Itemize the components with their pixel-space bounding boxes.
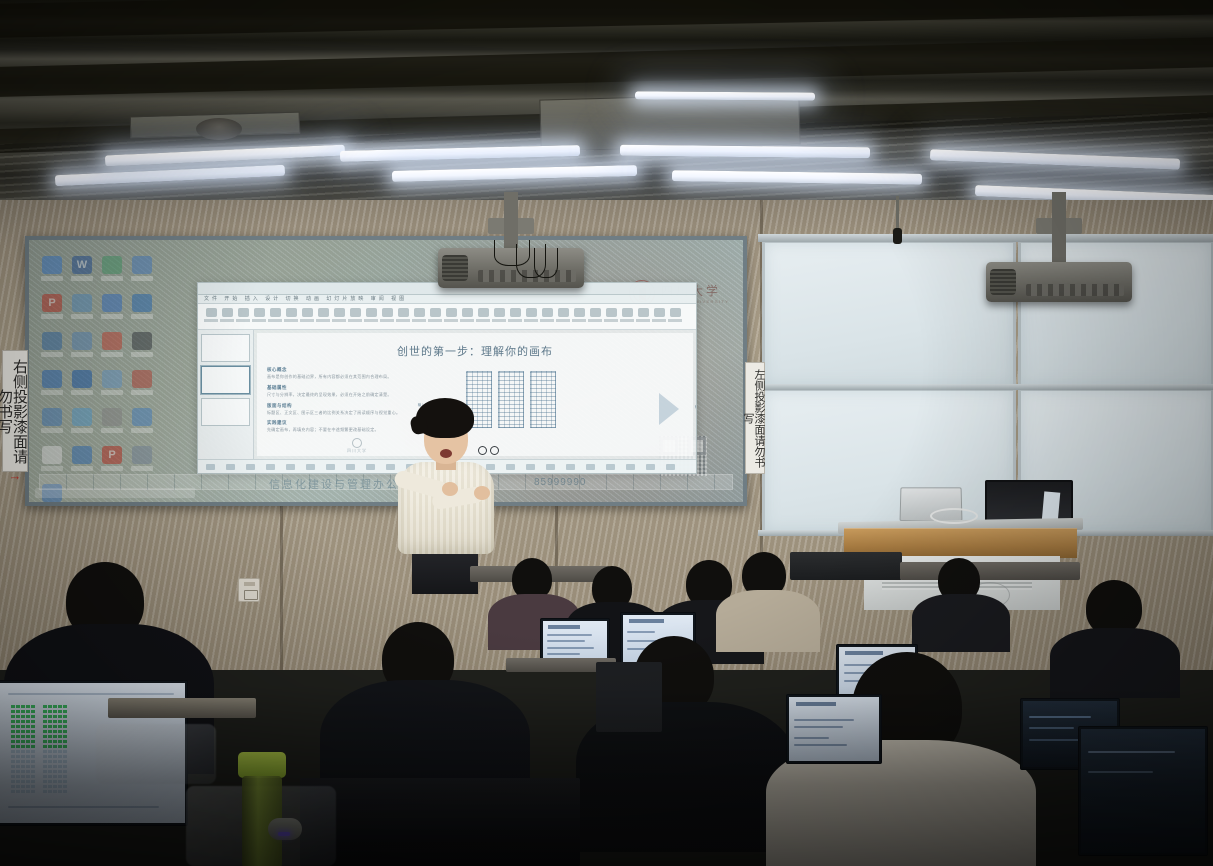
slide-thumbnail[interactable] [201, 366, 250, 394]
slide-title: 创世的第一步：理解你的画布 [267, 343, 683, 359]
diagram-cell [11, 745, 15, 748]
diagram-cell [11, 710, 15, 713]
ribbon-button[interactable] [620, 308, 634, 326]
ribbon-label [444, 319, 458, 322]
ribbon-label [652, 319, 666, 322]
screen-heading [845, 651, 883, 655]
diagram-cell [43, 720, 47, 723]
diagram-cell [11, 770, 15, 773]
ribbon-label [412, 319, 426, 322]
desktop-icon-glyph [132, 446, 152, 464]
whiteboard-rail [758, 384, 1213, 390]
eyeglasses-icon [478, 446, 500, 459]
wireless-mouse[interactable] [268, 818, 302, 840]
ribbon-button[interactable] [524, 308, 538, 326]
slide-thumbnail[interactable] [201, 398, 250, 426]
diagram-cell [63, 725, 67, 728]
desktop-icon[interactable] [41, 408, 63, 438]
ribbon-icon [622, 308, 633, 317]
projector-lens-icon [990, 269, 1016, 295]
slide-thumbnail[interactable] [201, 334, 250, 362]
diagram-cell [26, 770, 30, 773]
diagram-cell [53, 730, 57, 733]
desktop-icon-glyph [102, 294, 122, 312]
diagram-cell [26, 790, 30, 793]
desktop-icon-glyph: P [102, 446, 122, 464]
desktop-icon-glyph [42, 256, 62, 274]
screen-line [794, 719, 853, 721]
ribbon-label [380, 319, 394, 322]
presenter-right-hand [474, 486, 490, 500]
ceiling-beam [0, 0, 1213, 38]
diagram-cell [58, 790, 62, 793]
ribbon-icon [510, 308, 521, 317]
ribbon-icon [222, 308, 233, 317]
diagram-cell [16, 775, 20, 778]
diagram-cell [53, 755, 57, 758]
diagram-cell [63, 710, 67, 713]
diagram-cell [21, 770, 25, 773]
ribbon-label [236, 319, 250, 322]
screen-line [627, 631, 655, 633]
diagram-cell [43, 750, 47, 753]
diagram-cell [58, 705, 62, 708]
screen-line [1088, 771, 1152, 773]
ribbon-button[interactable] [252, 308, 266, 326]
ribbon-button[interactable] [380, 308, 394, 326]
diagram-cell [16, 790, 20, 793]
ribbon-icon [286, 308, 297, 317]
student-body [912, 594, 1010, 652]
desktop-icon-glyph [42, 446, 62, 464]
ribbon-button[interactable] [604, 308, 618, 326]
ribbon-button[interactable] [268, 308, 282, 326]
diagram-cell [21, 725, 25, 728]
screen-line [794, 744, 846, 746]
ribbon-label [348, 319, 362, 322]
slide-paragraph: 基础属性尺寸与分辨率，决定最终的呈现效果，必须在开始之前确定清楚。 [267, 385, 442, 398]
ribbon-button[interactable] [492, 308, 506, 326]
diagram-cell [53, 745, 57, 748]
desktop-icon-label [101, 314, 123, 319]
diagram-cell [26, 715, 30, 718]
desktop-icon-label [131, 352, 153, 357]
screen-heading [796, 702, 836, 706]
diagram-cell [11, 755, 15, 758]
ribbon-label [284, 319, 298, 322]
desktop-icon-label [131, 314, 153, 319]
diagram-cell [26, 730, 30, 733]
diagram-cell [58, 720, 62, 723]
ribbon-icon [446, 308, 457, 317]
desktop-icon-label [101, 352, 123, 357]
ribbon-icon [270, 308, 281, 317]
ribbon-label [556, 319, 570, 322]
slide-thumbnail-pane[interactable] [198, 330, 254, 459]
diagram-cell [43, 755, 47, 758]
diagram-cell [31, 765, 35, 768]
screen-line [8, 806, 158, 808]
fluorescent-light [635, 91, 815, 100]
diagram-cell [58, 775, 62, 778]
diagram-cell [11, 715, 15, 718]
paragraph-body: 尺寸与分辨率，决定最终的呈现效果，必须在开始之前确定清楚。 [267, 392, 442, 398]
desktop-icon[interactable] [71, 370, 93, 400]
diagram-cell [53, 770, 57, 773]
diagram-cell [63, 745, 67, 748]
diagram-cell [53, 715, 57, 718]
ribbon-icon [558, 308, 569, 317]
screen-line [1088, 751, 1175, 753]
desktop-icon-glyph [132, 294, 152, 312]
desktop-icon-label [71, 428, 93, 433]
diagram-cell [43, 745, 47, 748]
diagram-cell [11, 705, 15, 708]
diagram-cell [16, 715, 20, 718]
diagram-cell [48, 765, 52, 768]
ribbon-icon [430, 308, 441, 317]
diagram-cell [11, 760, 15, 763]
diagram-cell [16, 745, 20, 748]
diagram-cell [21, 715, 25, 718]
ribbon-toolbar[interactable] [198, 304, 696, 330]
diagram-cell [11, 775, 15, 778]
diagram-cell [26, 760, 30, 763]
desktop-icon-glyph [72, 294, 92, 312]
diagram-cell [63, 775, 67, 778]
diagram-funnel-icon [659, 393, 679, 425]
diagram-cell [53, 710, 57, 713]
diagram-cell [58, 710, 62, 713]
ribbon-label [572, 319, 586, 322]
projector-mount-pole [1052, 192, 1066, 262]
ribbon-label [524, 319, 538, 322]
desktop-icon[interactable] [131, 294, 153, 324]
ribbon-button[interactable] [204, 308, 218, 326]
diagram-cell [48, 750, 52, 753]
diagram-cell [26, 785, 30, 788]
ribbon-label [476, 319, 490, 322]
air-vent [539, 92, 800, 151]
desktop-icon-label [71, 314, 93, 319]
ribbon-label [620, 319, 634, 322]
desktop-icon-label [101, 428, 123, 433]
desktop-icon[interactable] [131, 408, 153, 438]
ribbon-button[interactable] [236, 308, 250, 326]
desktop-icon[interactable] [71, 332, 93, 362]
diagram-cell [11, 750, 15, 753]
ribbon-label [540, 319, 554, 322]
screen-line [547, 647, 594, 649]
desktop-icon[interactable] [101, 294, 123, 324]
diagram-cell [31, 785, 35, 788]
diagram-cell [53, 750, 57, 753]
diagram-cell [58, 760, 62, 763]
ribbon-button[interactable] [316, 308, 330, 326]
diagram-cell [58, 755, 62, 758]
diagram-cell [26, 710, 30, 713]
screen-line [1029, 716, 1091, 718]
desktop-icon-glyph [102, 332, 122, 350]
desktop-icon[interactable]: W [71, 256, 93, 286]
diagram-cell [43, 715, 47, 718]
diagram-cell [53, 765, 57, 768]
diagram-cell [31, 740, 35, 743]
ribbon-button[interactable] [476, 308, 490, 326]
desktop-icon-glyph [72, 332, 92, 350]
diagram-cell [11, 785, 15, 788]
desktop-icon[interactable] [71, 408, 93, 438]
diagram-cell [63, 780, 67, 783]
diagram-cell [26, 745, 30, 748]
ribbon-icon [590, 308, 601, 317]
ceiling-speaker-icon [196, 118, 242, 140]
diagram-cell [21, 705, 25, 708]
diagram-cell [53, 705, 57, 708]
diagram-cell [48, 720, 52, 723]
diagram-cell [21, 765, 25, 768]
diagram-cell [21, 750, 25, 753]
diagram-cell [48, 725, 52, 728]
ribbon-button[interactable] [652, 308, 666, 326]
ribbon-button[interactable] [460, 308, 474, 326]
whiteboard-rail [758, 234, 1213, 242]
ribbon-label [604, 319, 618, 322]
diagram-cell [58, 770, 62, 773]
ribbon-button[interactable] [508, 308, 522, 326]
desktop-icon-label [131, 276, 153, 281]
diagram-cell [31, 750, 35, 753]
desktop-icon-glyph [72, 408, 92, 426]
ribbon-icon [318, 308, 329, 317]
diagram-cell [26, 775, 30, 778]
desktop-icon-label [71, 390, 93, 395]
desk [108, 698, 256, 718]
ribbon-button[interactable] [572, 308, 586, 326]
footer-department: 信息化建设与管理办公室 [269, 476, 412, 492]
diagram-cell [63, 750, 67, 753]
ribbon-icon [414, 308, 425, 317]
ribbon-icon [462, 308, 473, 317]
ribbon-icon [526, 308, 537, 317]
diagram-cell [63, 755, 67, 758]
laptop-screen[interactable] [789, 697, 879, 761]
desktop-icon-label [101, 390, 123, 395]
diagram-cell [58, 725, 62, 728]
diagram-cell [58, 750, 62, 753]
desktop-icon-label [101, 276, 123, 281]
chair-back [300, 778, 580, 866]
desktop-icon[interactable] [131, 370, 153, 400]
diagram-cell [31, 755, 35, 758]
desktop-icon-glyph [42, 370, 62, 388]
desktop-icon[interactable] [41, 256, 63, 286]
desktop-icon-label [131, 428, 153, 433]
ribbon-button[interactable] [668, 308, 682, 326]
ribbon-button[interactable] [444, 308, 458, 326]
laptop-screen[interactable] [1081, 729, 1205, 853]
diagram-cell [48, 785, 52, 788]
diagram-cell [63, 740, 67, 743]
desktop-icon[interactable] [71, 294, 93, 324]
chair-back [596, 662, 662, 732]
ribbon-button[interactable] [588, 308, 602, 326]
ribbon-button[interactable] [300, 308, 314, 326]
diagram-cell [26, 735, 30, 738]
ribbon-icon [206, 308, 217, 317]
desktop-icon[interactable] [101, 408, 123, 438]
diagram-cell [21, 755, 25, 758]
ribbon-tabs[interactable]: 文件 开始 插入 设计 切换 动画 幻灯片放映 审阅 视图 [198, 295, 696, 304]
diagram-cell [58, 730, 62, 733]
diagram-cell [48, 705, 52, 708]
ribbon-button[interactable] [556, 308, 570, 326]
diagram-cell [31, 735, 35, 738]
diagram-cell [53, 725, 57, 728]
diagram-cell [11, 725, 15, 728]
desktop-icon-label [41, 276, 63, 281]
footer-seal-icon [352, 438, 362, 448]
ribbon-icon [494, 308, 505, 317]
diagram-cell [31, 760, 35, 763]
desk [900, 562, 1080, 580]
desktop-icon-glyph [132, 332, 152, 350]
diagram-cell [43, 780, 47, 783]
desktop-icon[interactable] [101, 332, 123, 362]
audience-area [0, 540, 1213, 866]
ribbon-button[interactable] [412, 308, 426, 326]
presenter-hair [416, 398, 474, 438]
ribbon-label [268, 319, 282, 322]
ribbon-button[interactable] [636, 308, 650, 326]
diagram-cell [11, 735, 15, 738]
diagram-cell [16, 720, 20, 723]
desktop-icon-glyph [72, 446, 92, 464]
diagram-cell [58, 765, 62, 768]
whiteboard-panel-bottom-left [762, 388, 1016, 534]
diagram-cell [58, 715, 62, 718]
ribbon-icon [606, 308, 617, 317]
desktop-icon-label [41, 352, 63, 357]
diagram-cell [43, 725, 47, 728]
ceiling-beam [0, 36, 1213, 98]
diagram-cell [16, 765, 20, 768]
diagram-cell [26, 740, 30, 743]
ribbon-button[interactable] [284, 308, 298, 326]
projection-surface: WPP 四川大学 SICHUAN UNIVERSITY 文件 开始 插入 设计 … [29, 240, 743, 502]
diagram-cell [63, 730, 67, 733]
diagram-cell [43, 705, 47, 708]
diagram-cell [63, 760, 67, 763]
diagram-cell [53, 780, 57, 783]
screen-heading [548, 625, 580, 629]
desktop-icon[interactable] [131, 256, 153, 286]
slide-paragraph: 核心概念画布是你创作的基础边界，所有内容都必须在其范围内合理布局。 [267, 367, 442, 380]
ribbon-icon [670, 308, 681, 317]
diagram-cell [16, 710, 20, 713]
ribbon-label [460, 319, 474, 322]
left-projection-warning-sign: 右侧投影漆面请勿书写 → [2, 350, 28, 472]
water-bottle [238, 752, 286, 866]
ribbon-button[interactable] [428, 308, 442, 326]
diagram-grid [498, 371, 524, 428]
ribbon-button[interactable] [332, 308, 346, 326]
student-body [716, 590, 820, 652]
diagram-cell [53, 760, 57, 763]
ribbon-button[interactable] [220, 308, 234, 326]
footer-phone: 85999990 [534, 477, 587, 488]
diagram-grid [530, 371, 556, 428]
paragraph-heading: 核心概念 [267, 367, 442, 373]
diagram-cell [26, 705, 30, 708]
desktop-icon-glyph: P [42, 294, 62, 312]
diagram-cell [58, 785, 62, 788]
desktop-icon[interactable] [101, 370, 123, 400]
desktop-icon[interactable] [131, 332, 153, 362]
desktop-icon[interactable] [41, 332, 63, 362]
desktop-icon[interactable]: P [41, 294, 63, 324]
ribbon-icon [334, 308, 345, 317]
student-laptop[interactable] [786, 694, 882, 764]
screen-line [547, 653, 580, 655]
ribbon-button[interactable] [396, 308, 410, 326]
diagram-cell [21, 710, 25, 713]
ribbon-label [300, 319, 314, 322]
ribbon-icon [654, 308, 665, 317]
lecture-hall-photo: WPP 四川大学 SICHUAN UNIVERSITY 文件 开始 插入 设计 … [0, 0, 1213, 866]
diagram-cell [53, 720, 57, 723]
diagram-output-label: 输出结果 [695, 405, 697, 410]
screen-line [1029, 727, 1074, 729]
student-body [1050, 628, 1180, 698]
desktop-icon[interactable] [101, 256, 123, 286]
diagram-cell [58, 740, 62, 743]
diagram-cell [31, 705, 35, 708]
hanging-microphone-icon [896, 196, 899, 230]
screen-heading [629, 619, 664, 623]
diagram-cell [11, 720, 15, 723]
diagram-cell [31, 710, 35, 713]
diagram-cell [48, 780, 52, 783]
diagram-cell [53, 735, 57, 738]
ribbon-button[interactable] [364, 308, 378, 326]
ribbon-label [668, 319, 682, 322]
desktop-icon-glyph [42, 408, 62, 426]
ribbon-icon [478, 308, 489, 317]
diagram-cell [16, 730, 20, 733]
lens [478, 446, 487, 455]
student-laptop-front-right[interactable] [1078, 726, 1208, 856]
diagram-cell [48, 715, 52, 718]
diagram-cell [26, 750, 30, 753]
projector-ports [1026, 284, 1124, 296]
ribbon-icon [574, 308, 585, 317]
ribbon-button[interactable] [540, 308, 554, 326]
diagram-cell [31, 720, 35, 723]
ribbon-label [252, 319, 266, 322]
diagram-cell [63, 720, 67, 723]
diagram-cell [16, 760, 20, 763]
ribbon-icon [350, 308, 361, 317]
ribbon-button[interactable] [348, 308, 362, 326]
desktop-icon[interactable] [41, 370, 63, 400]
diagram-cell [16, 755, 20, 758]
screen-line [794, 737, 828, 739]
ceiling-projector-right [986, 262, 1132, 302]
diagram-cell [53, 740, 57, 743]
screen-line [547, 640, 585, 642]
diagram-cell [63, 765, 67, 768]
